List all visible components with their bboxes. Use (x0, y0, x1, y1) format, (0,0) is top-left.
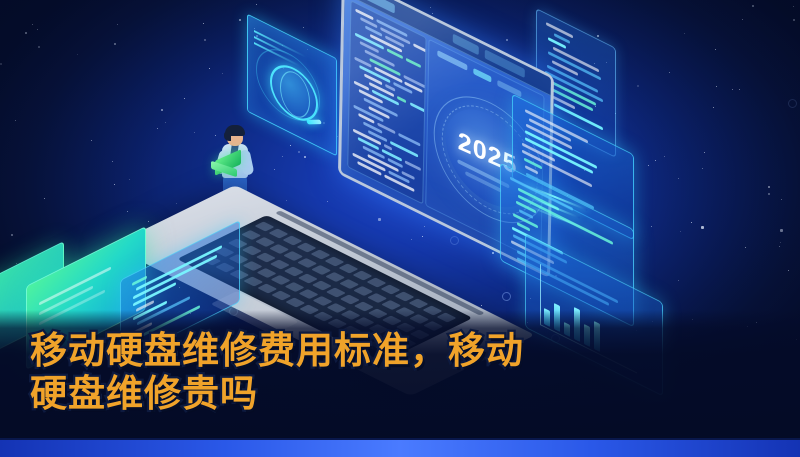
title-line-1: 移动硬盘维修费用标准，移动 (30, 330, 680, 373)
banner-image: 2025 移动硬盘维修费用标准，移动 硬盘维修贵吗 (0, 0, 800, 457)
person-laptop-icon (211, 155, 241, 173)
page-title: 移动硬盘维修费用标准，移动 硬盘维修贵吗 (30, 330, 680, 416)
bottom-accent-bar (0, 440, 800, 457)
title-line-2: 硬盘维修贵吗 (30, 373, 680, 416)
pointer-glyph (306, 120, 322, 125)
